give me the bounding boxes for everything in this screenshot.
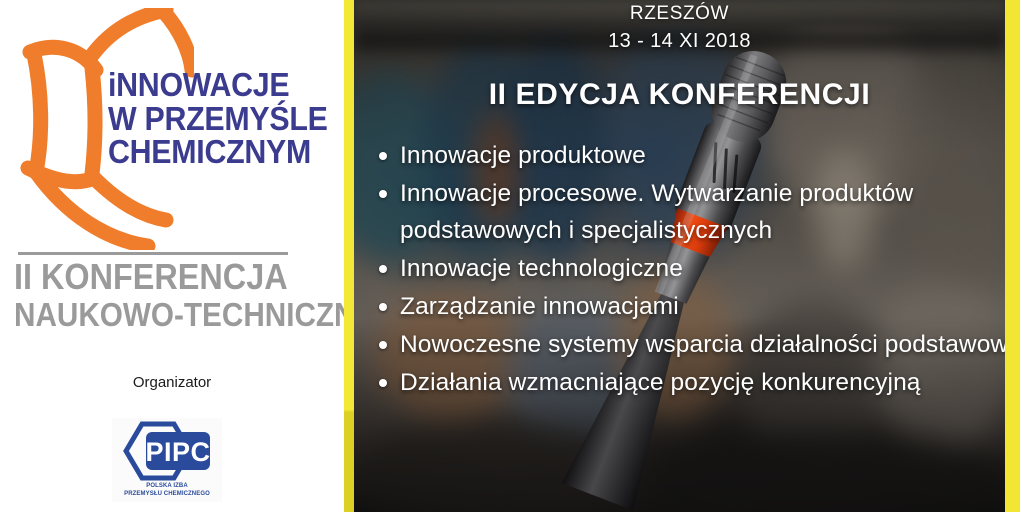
logo-wordmark-line-2: W PRZEMYŚLE (108, 102, 320, 136)
pipc-caption-line-2: PRZEMYSŁU CHEMICZNEGO (112, 491, 222, 499)
list-item: Innowacje procesowe. Wytwarzanie produkt… (400, 175, 1024, 249)
frame-right-outer-margin (1020, 0, 1024, 512)
conference-poster: iNNOWACJE W PRZEMYŚLE CHEMICZNYM II KONF… (0, 0, 1024, 512)
list-item: Działania wzmacniające pozycję konkurenc… (400, 364, 1024, 401)
pipc-caption-line-1: POLSKA IZBA (112, 483, 222, 491)
left-branding-panel: iNNOWACJE W PRZEMYŚLE CHEMICZNYM II KONF… (0, 0, 344, 512)
conference-heading-line-2: NAUKOWO-TECHNICZNA (14, 297, 298, 332)
logo-wordmark-line-3: CHEMICZNYM (108, 135, 320, 169)
dates-label: 13 - 14 XI 2018 (354, 30, 1005, 53)
edition-title: II EDYCJA KONFERENCJI (354, 78, 1005, 112)
divider-rule (18, 252, 288, 255)
list-item: Zarządzanie innowacjami (400, 288, 1024, 325)
innowacje-logo: iNNOWACJE W PRZEMYŚLE CHEMICZNYM (8, 6, 338, 252)
right-content-panel: RZESZÓW 13 - 14 XI 2018 II EDYCJA KONFER… (344, 0, 1024, 512)
pipc-caption: POLSKA IZBA PRZEMYSŁU CHEMICZNEGO (112, 483, 222, 498)
svg-text:PIPC: PIPC (145, 437, 210, 467)
pipc-logo: PIPC POLSKA IZBA PRZEMYSŁU CHEMICZNEGO (112, 418, 222, 502)
list-item: Innowacje produktowe (400, 137, 1024, 174)
conference-heading: II KONFERENCJA NAUKOWO-TECHNICZNA (14, 258, 298, 332)
list-item: Nowoczesne systemy wsparcia działalności… (400, 326, 1024, 363)
right-panel-text: RZESZÓW 13 - 14 XI 2018 II EDYCJA KONFER… (354, 0, 1005, 512)
logo-wordmark-line-1: iNNOWACJE (108, 68, 320, 102)
organizer-label: Organizator (0, 374, 344, 391)
list-item: Innowacje technologiczne (400, 250, 1024, 287)
frame-right-edge (1005, 0, 1020, 512)
topics-list: Innowacje produktowe Innowacje procesowe… (366, 137, 1024, 402)
pipc-hexagon-monogram-icon: PIPC (112, 418, 222, 484)
city-label: RZESZÓW (354, 3, 1005, 25)
logo-wordmark: iNNOWACJE W PRZEMYŚLE CHEMICZNYM (108, 68, 320, 169)
frame-left-edge (344, 0, 354, 512)
conference-heading-line-1: II KONFERENCJA (14, 258, 298, 297)
